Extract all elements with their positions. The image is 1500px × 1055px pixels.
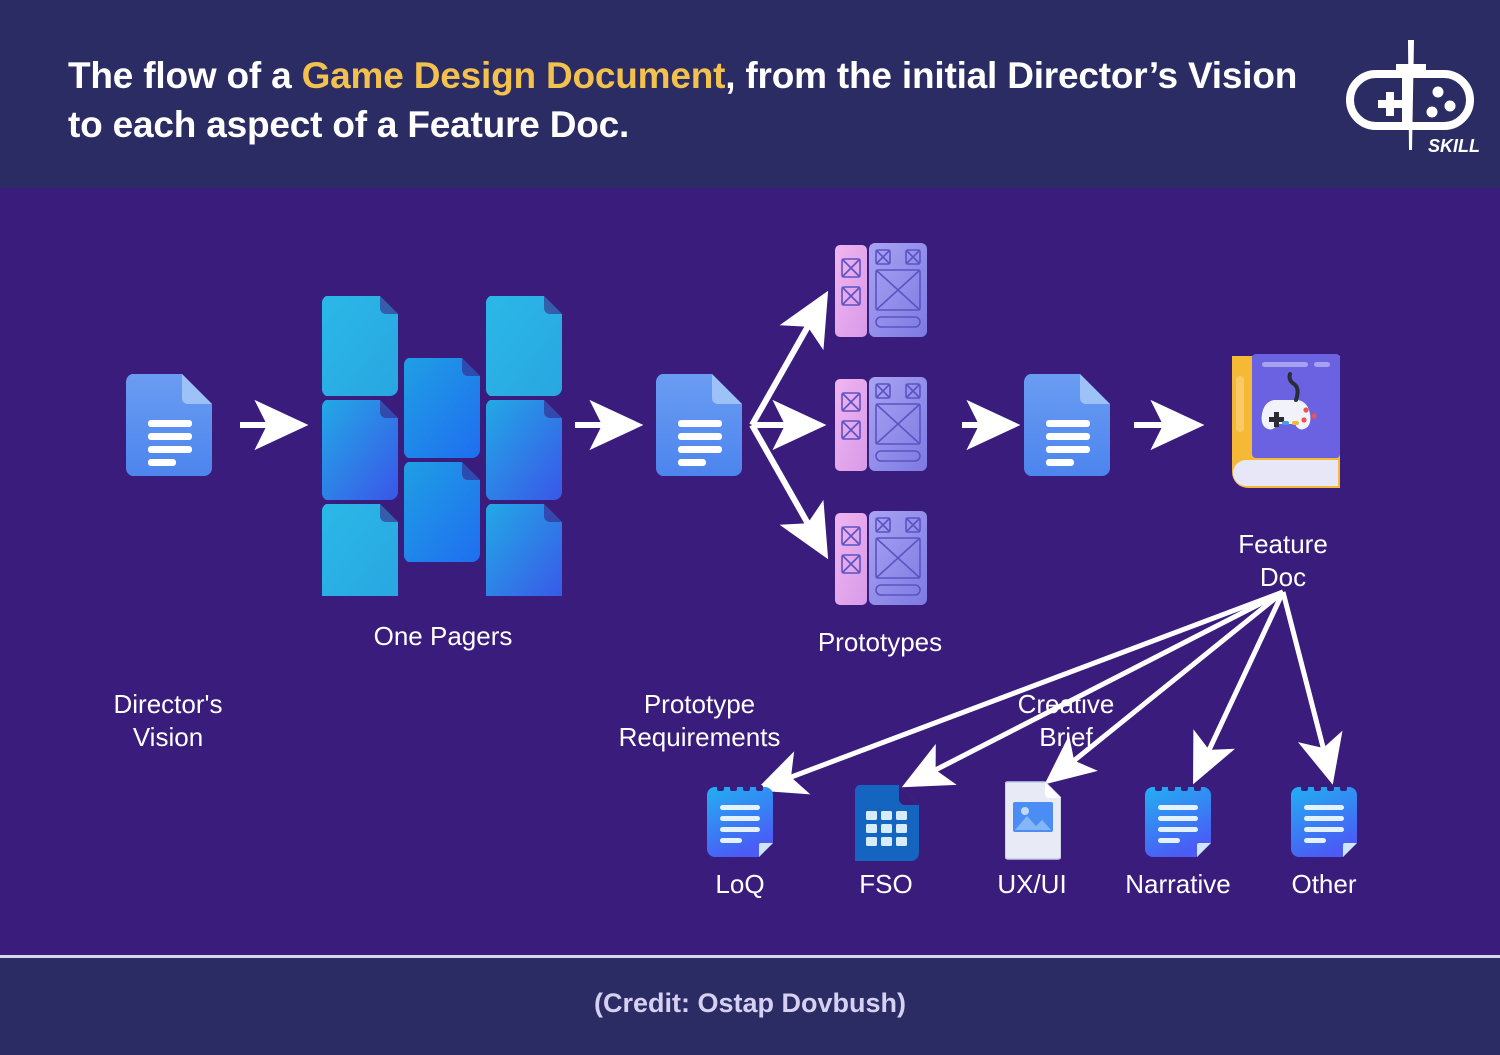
label-narrative: Narrative bbox=[1098, 868, 1258, 901]
label-loq: LoQ bbox=[660, 868, 820, 901]
label-other: Other bbox=[1244, 868, 1404, 901]
label-creative-brief: Creative Brief bbox=[966, 688, 1166, 753]
label-prototype-requirements: Prototype Requirements bbox=[592, 688, 807, 753]
node-fso-icon[interactable] bbox=[855, 785, 919, 861]
credit-text: (Credit: Ostap Dovbush) bbox=[0, 988, 1500, 1019]
footer-bar: (Credit: Ostap Dovbush) bbox=[0, 958, 1500, 1055]
node-prototype-wireframe-middle[interactable] bbox=[835, 377, 927, 473]
node-one-pagers-icon[interactable] bbox=[322, 296, 562, 596]
node-directors-vision-icon[interactable] bbox=[126, 374, 212, 476]
node-loq-icon[interactable] bbox=[707, 785, 773, 861]
node-creative-brief-icon[interactable] bbox=[1024, 374, 1110, 476]
node-prototype-wireframe-top[interactable] bbox=[835, 243, 927, 339]
infographic-page: The flow of a Game Design Document, from… bbox=[0, 0, 1500, 1055]
node-other-icon[interactable] bbox=[1291, 785, 1357, 861]
label-uxui: UX/UI bbox=[952, 868, 1112, 901]
header-banner: The flow of a Game Design Document, from… bbox=[0, 0, 1500, 188]
gd-skills-gamepad-sword-logo: SKILLS bbox=[1340, 34, 1480, 162]
logo-text: SKILLS bbox=[1428, 136, 1480, 156]
label-one-pagers: One Pagers bbox=[328, 620, 558, 653]
node-narrative-icon[interactable] bbox=[1145, 785, 1211, 861]
title-part-1: The flow of a bbox=[68, 55, 302, 96]
title-highlight: Game Design Document bbox=[302, 55, 726, 96]
node-prototype-wireframe-bottom[interactable] bbox=[835, 511, 927, 607]
node-prototype-requirements-icon[interactable] bbox=[656, 374, 742, 476]
prototype-fan-arrows bbox=[752, 298, 824, 552]
label-fso: FSO bbox=[806, 868, 966, 901]
label-directors-vision: Director's Vision bbox=[68, 688, 268, 753]
diagram-canvas: Director's Vision bbox=[0, 188, 1500, 957]
label-feature-doc: Feature Doc bbox=[1183, 528, 1383, 593]
page-title: The flow of a Game Design Document, from… bbox=[68, 52, 1298, 150]
label-prototypes: Prototypes bbox=[780, 626, 980, 659]
node-feature-doc-icon[interactable] bbox=[1222, 346, 1350, 498]
node-uxui-icon[interactable] bbox=[1005, 780, 1061, 860]
